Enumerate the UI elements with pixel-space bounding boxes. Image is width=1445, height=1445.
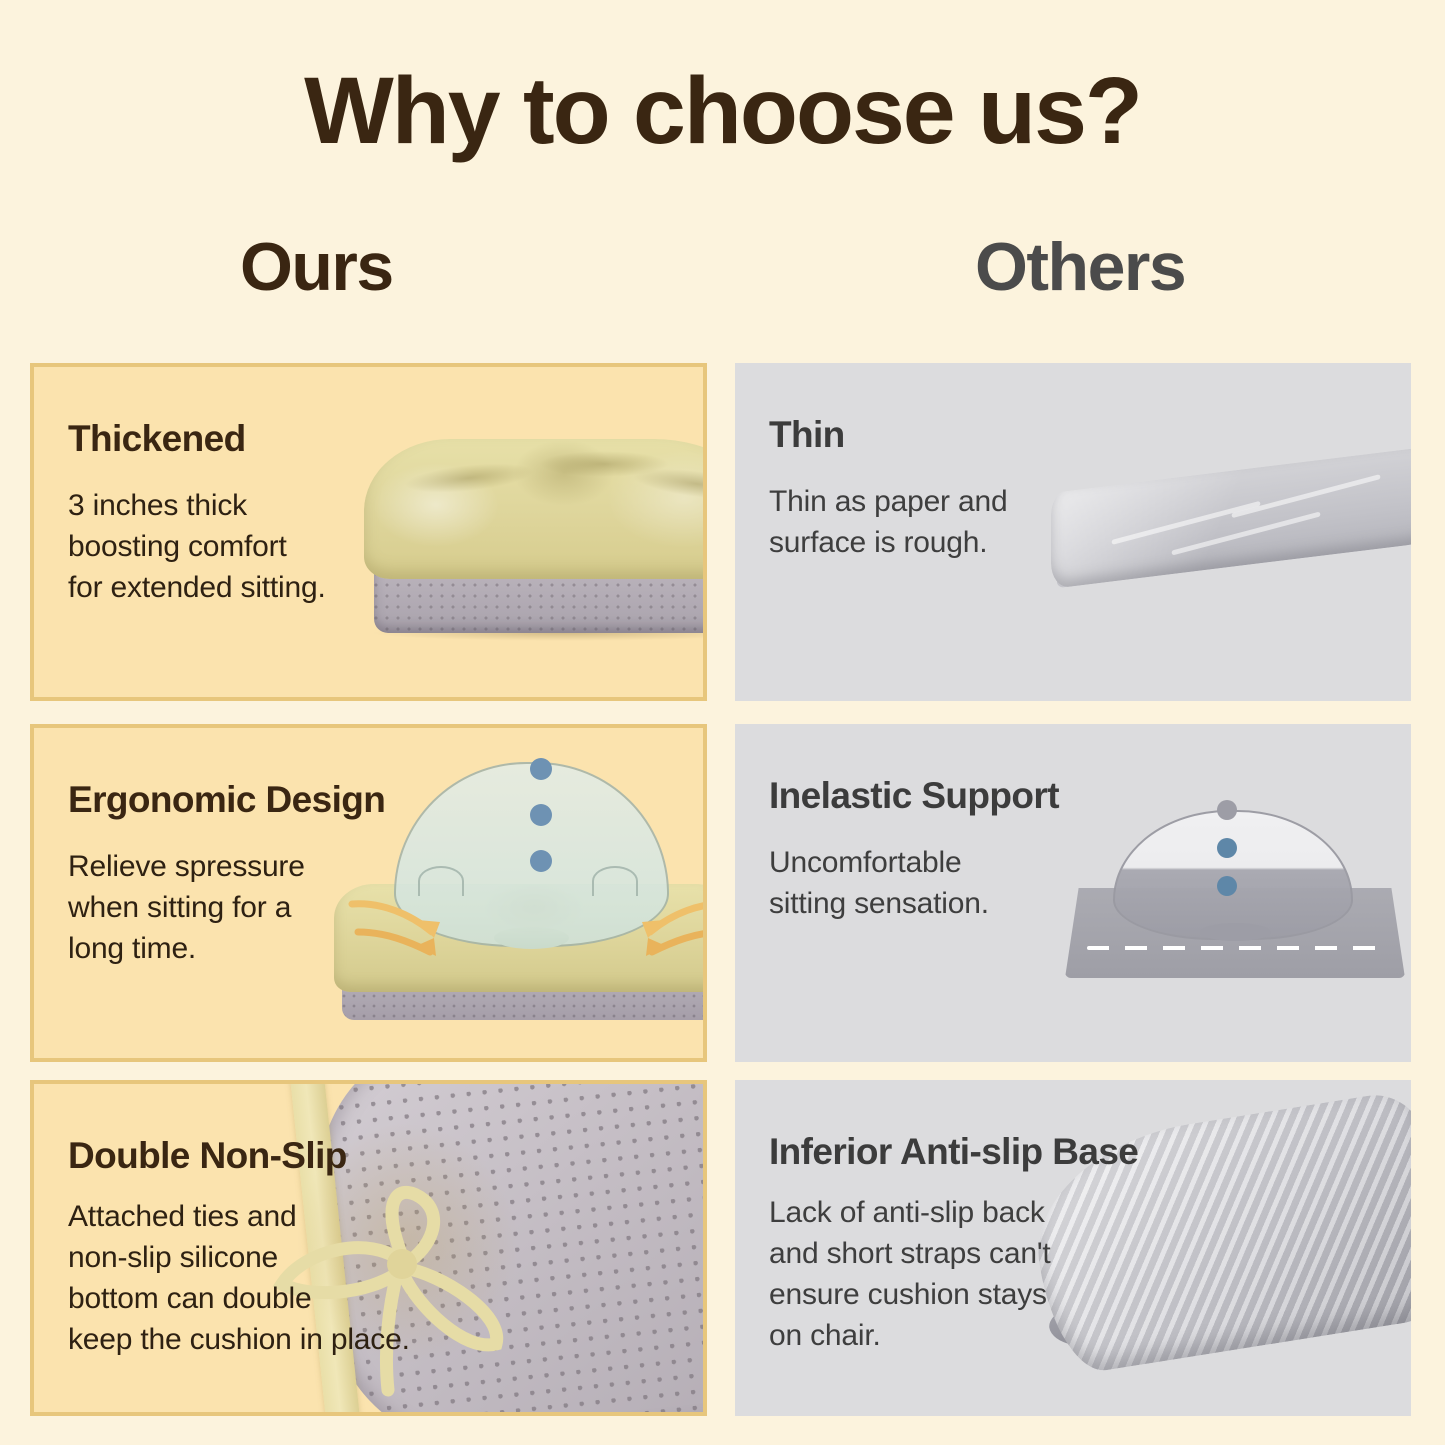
card-others-inelastic-support: Inelastic Support Uncomfortable sitting … — [735, 724, 1411, 1062]
card-ours-ergonomic-design: Ergonomic Design Relieve spressure when … — [30, 724, 707, 1062]
card-body: Uncomfortable sitting sensation. — [769, 842, 989, 924]
card-ours-thickened: Thickened 3 inches thick boosting comfor… — [30, 363, 707, 701]
card-title: Double Non-Slip — [68, 1136, 347, 1177]
card-others-inferior-anti-slip-base: Inferior Anti-slip Base Lack of anti-sli… — [735, 1080, 1411, 1416]
card-others-thin: Thin Thin as paper and surface is rough. — [735, 363, 1411, 701]
card-title: Ergonomic Design — [68, 780, 385, 821]
card-body: 3 inches thick boosting comfort for exte… — [68, 485, 326, 608]
comparison-grid: Thickened 3 inches thick boosting comfor… — [0, 0, 1445, 1445]
pressure-arrow-right-icon — [624, 898, 707, 960]
pressure-arrow-left-icon — [348, 898, 458, 960]
card-body: Relieve spressure when sitting for a lon… — [68, 846, 305, 969]
card-title: Thickened — [68, 419, 246, 460]
card-body: Lack of anti-slip back and short straps … — [769, 1192, 1050, 1356]
card-ours-double-non-slip: Double Non-Slip Attached ties and non-sl… — [30, 1080, 707, 1416]
card-body: Thin as paper and surface is rough. — [769, 481, 1007, 563]
card-title: Thin — [769, 415, 845, 456]
spine-dots-icon — [1217, 800, 1237, 914]
card-title: Inferior Anti-slip Base — [769, 1132, 1138, 1173]
card-title: Inelastic Support — [769, 776, 1059, 817]
card-body: Attached ties and non-slip silicone bott… — [68, 1196, 410, 1360]
spine-dots-icon — [530, 758, 552, 896]
